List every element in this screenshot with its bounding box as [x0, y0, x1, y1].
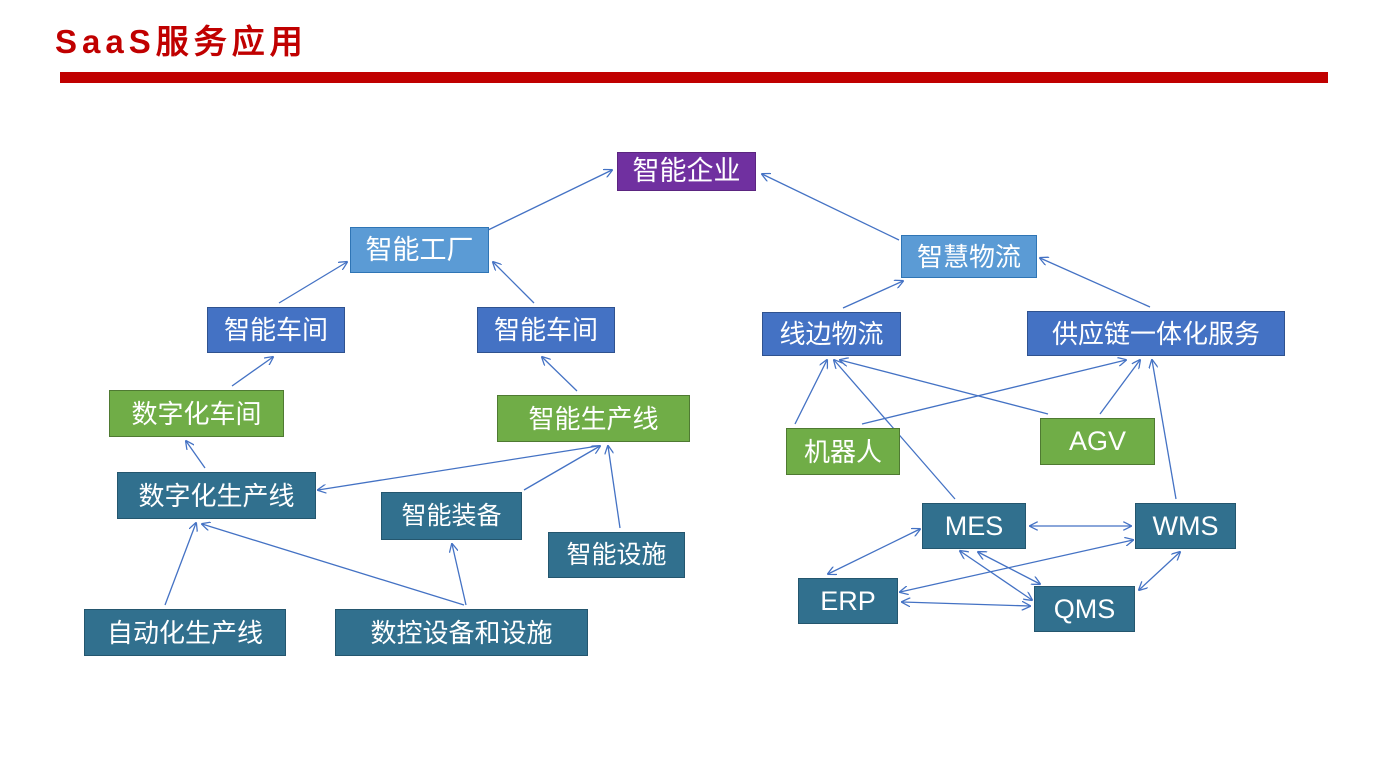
- edge-digital-production-line-to-digital-workshop: [186, 441, 205, 468]
- edge-smart-workshop-left-to-smart-factory: [279, 262, 347, 303]
- node-cnc-equipment[interactable]: 数控设备和设施: [335, 609, 588, 656]
- node-automated-production-line[interactable]: 自动化生产线: [84, 609, 286, 656]
- slide-canvas: SaaS服务应用 智能企业智能工厂智慧物流智能车间智能车间线边物流供应链一体化服…: [0, 0, 1388, 775]
- edge-mes-to-qms: [960, 551, 1032, 600]
- edge-smart-equipment-to-smart-production-line: [524, 446, 600, 490]
- edge-qms-to-mes: [978, 552, 1040, 584]
- node-robot[interactable]: 机器人: [786, 428, 900, 475]
- node-smart-enterprise[interactable]: 智能企业: [617, 152, 756, 191]
- edge-smart-workshop-right-to-smart-factory: [493, 262, 534, 303]
- edge-agv-to-line-side-logistics: [840, 360, 1048, 414]
- edge-digital-workshop-to-smart-workshop-left: [232, 357, 273, 386]
- edge-digital-production-line-to-smart-production-line: [318, 446, 598, 490]
- edge-automated-production-line-to-digital-production-line: [165, 523, 196, 605]
- node-smart-equipment[interactable]: 智能装备: [381, 492, 522, 540]
- node-line-side-logistics[interactable]: 线边物流: [762, 312, 901, 356]
- node-smart-workshop-right[interactable]: 智能车间: [477, 307, 615, 353]
- node-smart-logistics[interactable]: 智慧物流: [901, 235, 1037, 278]
- edge-cnc-equipment-to-smart-equipment: [452, 544, 466, 605]
- node-agv[interactable]: AGV: [1040, 418, 1155, 465]
- edge-qms-to-wms: [1139, 552, 1180, 590]
- edge-smart-facility-to-smart-production-line: [608, 446, 620, 528]
- diagram-edge-layer: [0, 0, 1388, 775]
- edge-erp-to-qms: [902, 602, 1030, 606]
- node-smart-factory[interactable]: 智能工厂: [350, 227, 489, 273]
- edge-robot-to-line-side-logistics: [795, 360, 827, 424]
- edge-line-side-logistics-to-smart-logistics: [843, 281, 903, 308]
- edge-erp-to-mes: [828, 529, 920, 574]
- edge-wms-to-supply-chain-service: [1152, 360, 1176, 499]
- node-digital-production-line[interactable]: 数字化生产线: [117, 472, 316, 519]
- saas-service-hierarchy-diagram: 智能企业智能工厂智慧物流智能车间智能车间线边物流供应链一体化服务数字化车间智能生…: [0, 0, 1388, 775]
- edge-supply-chain-service-to-smart-logistics: [1040, 258, 1150, 307]
- node-wms[interactable]: WMS: [1135, 503, 1236, 549]
- node-qms[interactable]: QMS: [1034, 586, 1135, 632]
- node-supply-chain-service[interactable]: 供应链一体化服务: [1027, 311, 1285, 356]
- edge-smart-logistics-to-smart-enterprise: [762, 174, 899, 240]
- node-smart-production-line[interactable]: 智能生产线: [497, 395, 690, 442]
- node-mes[interactable]: MES: [922, 503, 1026, 549]
- node-digital-workshop[interactable]: 数字化车间: [109, 390, 284, 437]
- edge-agv-to-supply-chain-service: [1100, 360, 1140, 414]
- node-smart-workshop-left[interactable]: 智能车间: [207, 307, 345, 353]
- edge-smart-production-line-to-smart-workshop-right: [542, 357, 577, 391]
- edge-robot-to-supply-chain-service: [862, 360, 1126, 424]
- node-smart-facility[interactable]: 智能设施: [548, 532, 685, 578]
- edge-smart-factory-to-smart-enterprise: [484, 170, 612, 232]
- node-erp[interactable]: ERP: [798, 578, 898, 624]
